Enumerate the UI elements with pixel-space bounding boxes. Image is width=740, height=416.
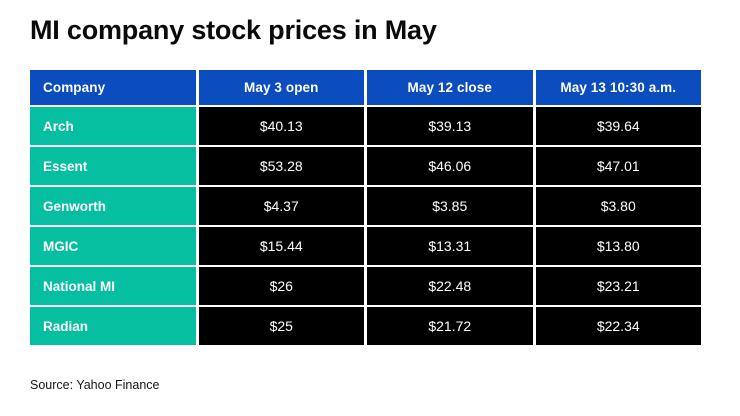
column-header-may-3-open[interactable]: May 3 open: [199, 70, 365, 105]
cell-company: MGIC: [30, 227, 196, 265]
cell-may-12-close: $39.13: [367, 107, 533, 145]
cell-company: Genworth: [30, 187, 196, 225]
cell-company: Radian: [30, 307, 196, 345]
cell-may-13-1030am: $47.01: [536, 147, 702, 185]
table-row: Radian $25 $21.72 $22.34: [30, 307, 701, 345]
cell-may-13-1030am: $3.80: [536, 187, 702, 225]
table-row: Essent $53.28 $46.06 $47.01: [30, 147, 701, 185]
column-header-company[interactable]: Company: [30, 70, 196, 105]
cell-may-12-close: $22.48: [367, 267, 533, 305]
stock-prices-table-container: Company May 3 open May 12 close May 13 1…: [30, 70, 707, 345]
column-header-may-12-close[interactable]: May 12 close: [367, 70, 533, 105]
table-row: Genworth $4.37 $3.85 $3.80: [30, 187, 701, 225]
cell-may-13-1030am: $13.80: [536, 227, 702, 265]
cell-may-3-open: $26: [199, 267, 365, 305]
infographic-table-card: MI company stock prices in May Company M…: [0, 0, 740, 416]
cell-company: National MI: [30, 267, 196, 305]
page-title: MI company stock prices in May: [30, 14, 437, 47]
cell-may-3-open: $4.37: [199, 187, 365, 225]
table-row: MGIC $15.44 $13.31 $13.80: [30, 227, 701, 265]
table-row: National MI $26 $22.48 $23.21: [30, 267, 701, 305]
cell-may-3-open: $53.28: [199, 147, 365, 185]
table-body: Arch $40.13 $39.13 $39.64 Essent $53.28 …: [30, 107, 701, 345]
cell-may-3-open: $15.44: [199, 227, 365, 265]
table-header-row: Company May 3 open May 12 close May 13 1…: [30, 70, 701, 105]
cell-may-12-close: $13.31: [367, 227, 533, 265]
source-caption: Source: Yahoo Finance: [30, 378, 160, 392]
cell-may-13-1030am: $39.64: [536, 107, 702, 145]
cell-may-3-open: $40.13: [199, 107, 365, 145]
column-header-may-13-1030am[interactable]: May 13 10:30 a.m.: [536, 70, 702, 105]
cell-may-3-open: $25: [199, 307, 365, 345]
cell-may-12-close: $21.72: [367, 307, 533, 345]
cell-may-13-1030am: $23.21: [536, 267, 702, 305]
cell-company: Arch: [30, 107, 196, 145]
cell-may-13-1030am: $22.34: [536, 307, 702, 345]
cell-may-12-close: $46.06: [367, 147, 533, 185]
cell-may-12-close: $3.85: [367, 187, 533, 225]
stock-prices-table: Company May 3 open May 12 close May 13 1…: [27, 68, 704, 347]
table-header: Company May 3 open May 12 close May 13 1…: [30, 70, 701, 105]
cell-company: Essent: [30, 147, 196, 185]
table-row: Arch $40.13 $39.13 $39.64: [30, 107, 701, 145]
